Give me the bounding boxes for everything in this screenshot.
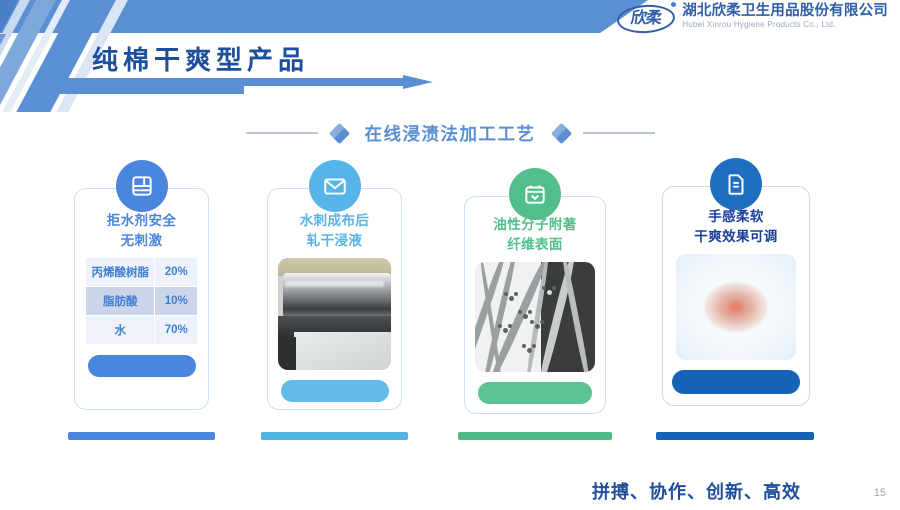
company-logo: 欣柔 湖北欣柔卫生用品股份有限公司 Hubei Xinrou Hygiene P…	[617, 2, 888, 32]
diamond-marker-icon-left	[328, 122, 349, 143]
card-body: 拒水剂安全 无刺激 丙烯酸树脂 20% 脂肪酸 10% 水 70%	[74, 188, 209, 410]
table-row: 丙烯酸树脂 20%	[86, 258, 198, 287]
ledger-book-icon	[116, 160, 168, 212]
logo-glyph: 欣柔	[623, 7, 670, 28]
table-cell-value: 10%	[155, 287, 198, 316]
card-base-bar	[656, 432, 814, 440]
card-body: 油性分子附著 纤维表面	[464, 196, 606, 414]
card-title-line2: 纤维表面	[465, 235, 605, 255]
calender-roller-photo	[278, 258, 391, 370]
card-base-bar	[261, 432, 408, 440]
table-cell-value: 20%	[155, 258, 198, 287]
card-body: 水刺成布后 轧干浸液	[267, 188, 402, 410]
fiber-microscope-photo	[475, 262, 595, 372]
company-seal-logo-icon: 欣柔	[617, 2, 675, 32]
card-action-pill[interactable]	[281, 380, 389, 402]
card-base-bar	[68, 432, 215, 440]
document-icon	[710, 158, 762, 210]
page-number: 15	[874, 487, 886, 499]
card-body: 手感柔软 干爽效果可调	[662, 186, 810, 406]
card-title-line1: 拒水剂安全	[75, 211, 208, 231]
card-base-bar	[458, 432, 612, 440]
card-title-line2: 干爽效果可调	[663, 227, 809, 247]
calendar-chevron-icon	[509, 168, 561, 220]
card-spunlace[interactable]: 水刺成布后 轧干浸液	[267, 160, 402, 440]
diamond-marker-icon-right	[550, 122, 571, 143]
card-action-pill[interactable]	[478, 382, 592, 404]
table-row: 脂肪酸 10%	[86, 287, 198, 316]
card-action-pill[interactable]	[672, 370, 800, 394]
title-arrow-icon	[48, 75, 438, 89]
card-oil-molecule[interactable]: 油性分子附著 纤维表面	[464, 160, 606, 440]
process-card-row: 拒水剂安全 无刺激 丙烯酸树脂 20% 脂肪酸 10% 水 70%	[0, 160, 900, 450]
subtitle-rule-left	[246, 132, 318, 134]
table-cell-name: 水	[86, 316, 155, 345]
composition-table: 丙烯酸树脂 20% 脂肪酸 10% 水 70%	[85, 257, 198, 345]
absorbent-pad-photo	[676, 254, 796, 360]
slide-canvas: 欣柔 湖北欣柔卫生用品股份有限公司 Hubei Xinrou Hygiene P…	[0, 0, 900, 510]
table-row: 水 70%	[86, 316, 198, 345]
envelope-icon	[309, 160, 361, 212]
card-water-repellent[interactable]: 拒水剂安全 无刺激 丙烯酸树脂 20% 脂肪酸 10% 水 70%	[74, 160, 209, 440]
footer-slogan: 拼搏、协作、创新、高效	[592, 478, 801, 504]
card-action-pill[interactable]	[88, 355, 196, 377]
card-title-line2: 轧干浸液	[268, 231, 401, 251]
company-name-cn: 湖北欣柔卫生用品股份有限公司	[682, 4, 888, 19]
section-subtitle: 在线浸渍法加工工艺	[0, 118, 900, 148]
page-title: 纯棉干爽型产品	[92, 40, 309, 77]
subtitle-text: 在线浸渍法加工工艺	[361, 121, 540, 146]
card-title-line1: 水刺成布后	[268, 211, 401, 231]
company-name-en: Hubei Xinrou Hygiene Products Co., Ltd.	[682, 21, 888, 30]
table-cell-name: 丙烯酸树脂	[86, 258, 155, 287]
table-cell-name: 脂肪酸	[86, 287, 155, 316]
subtitle-rule-right	[583, 132, 655, 134]
table-cell-value: 70%	[155, 316, 198, 345]
card-soft-touch[interactable]: 手感柔软 干爽效果可调	[662, 160, 810, 440]
card-title-line2: 无刺激	[75, 231, 208, 251]
